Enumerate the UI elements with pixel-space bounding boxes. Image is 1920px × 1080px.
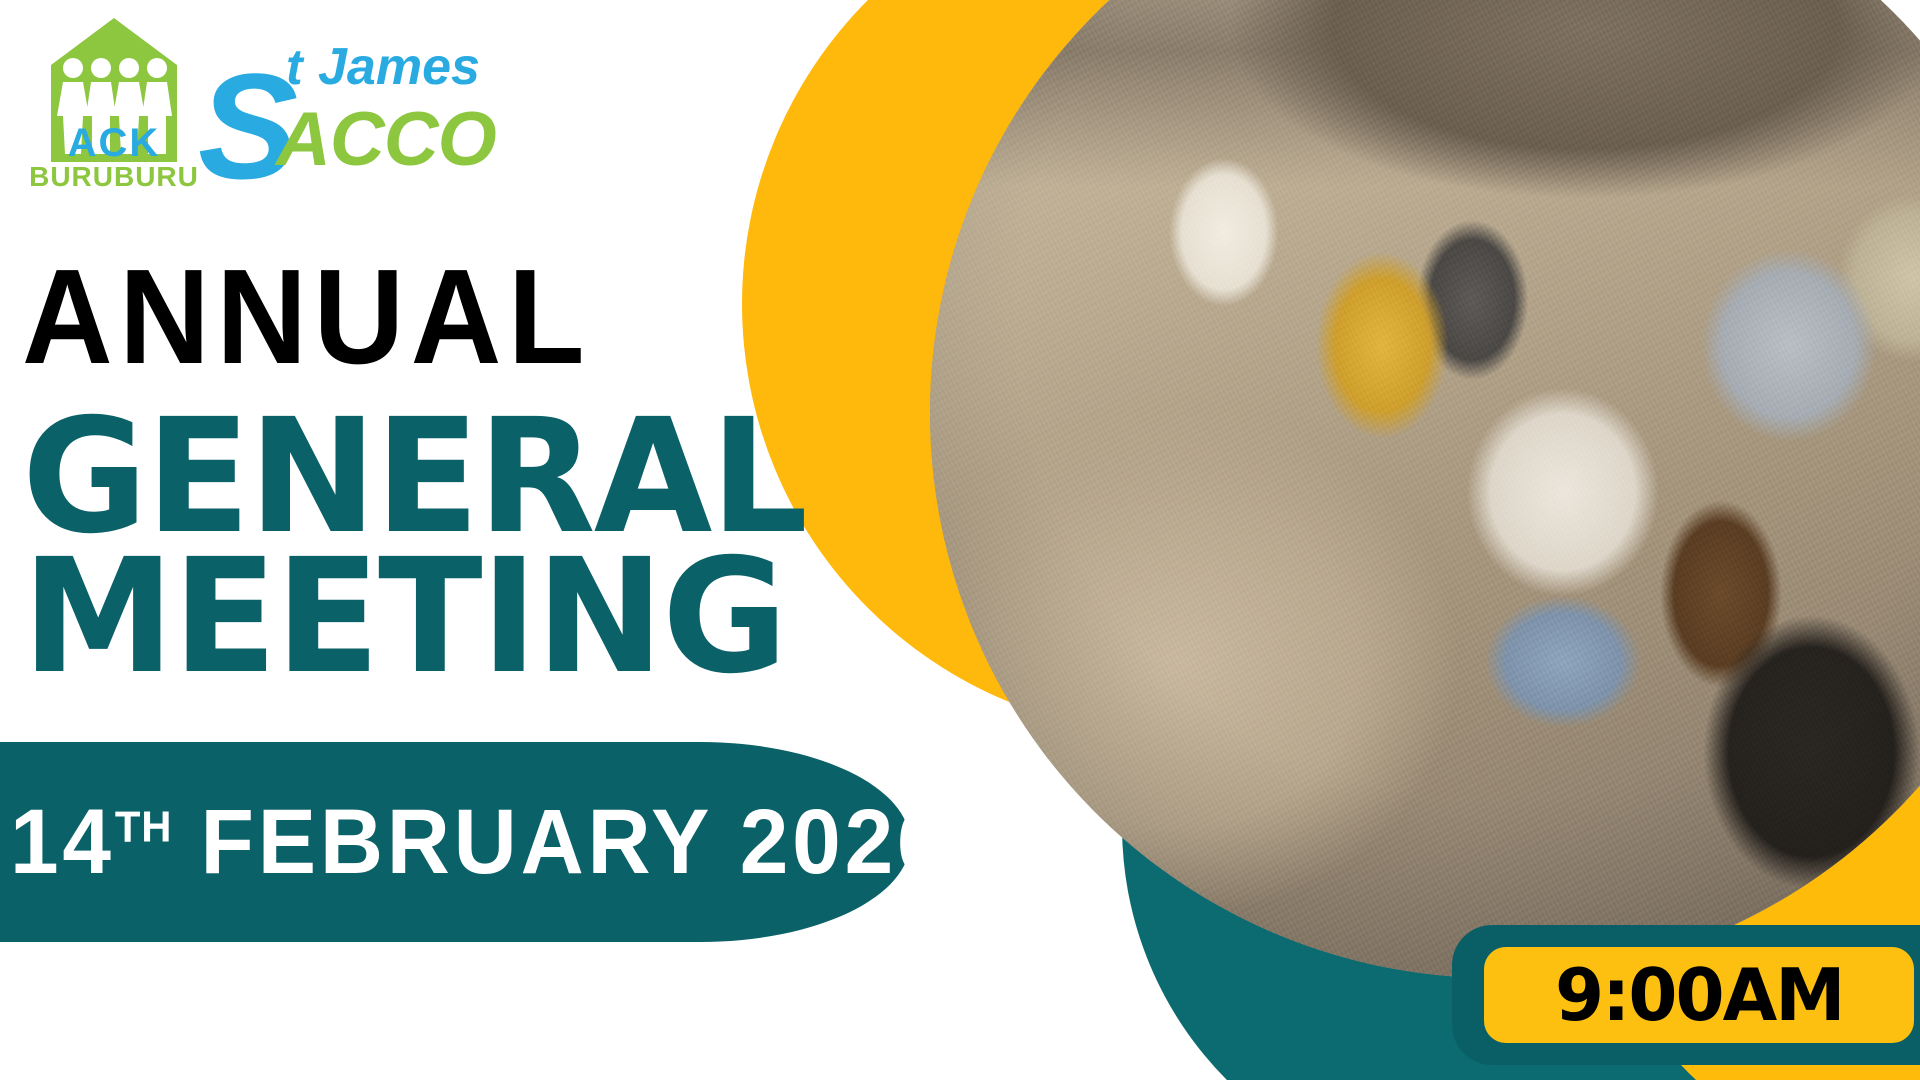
logo-wordmark-james: James — [318, 38, 480, 96]
agm-photo-vignette — [930, 0, 1920, 978]
logo: ACK BURUBURU S t James ACCO — [18, 10, 538, 195]
date-ordinal: TH — [115, 802, 173, 851]
date-month: FEBRUARY — [201, 791, 712, 893]
time-badge-inner: 9:00AM — [1484, 947, 1914, 1043]
time-text: 9:00AM — [1555, 959, 1844, 1031]
logo-buruburu-text: BURUBURU — [29, 161, 199, 192]
time-badge: 9:00AM — [1452, 925, 1920, 1065]
title-line-meeting: MEETING — [22, 536, 806, 699]
title-line-annual: ANNUAL — [22, 252, 774, 382]
date-year: 2026 — [740, 791, 950, 893]
poster-canvas: ACK BURUBURU S t James ACCO ANNUAL GENER… — [0, 0, 1920, 1080]
page-title: ANNUAL GENERAL MEETING — [22, 252, 830, 699]
date-banner: 14TH FEBRUARY 2026 — [0, 742, 910, 942]
agm-photo — [930, 0, 1920, 978]
logo-wordmark-t: t — [286, 39, 305, 95]
date-day: 14 — [10, 791, 115, 893]
logo-wordmark-acco: ACCO — [274, 97, 496, 182]
date-text: 14TH FEBRUARY 2026 — [10, 796, 949, 888]
logo-ack-text: ACK — [68, 121, 161, 165]
